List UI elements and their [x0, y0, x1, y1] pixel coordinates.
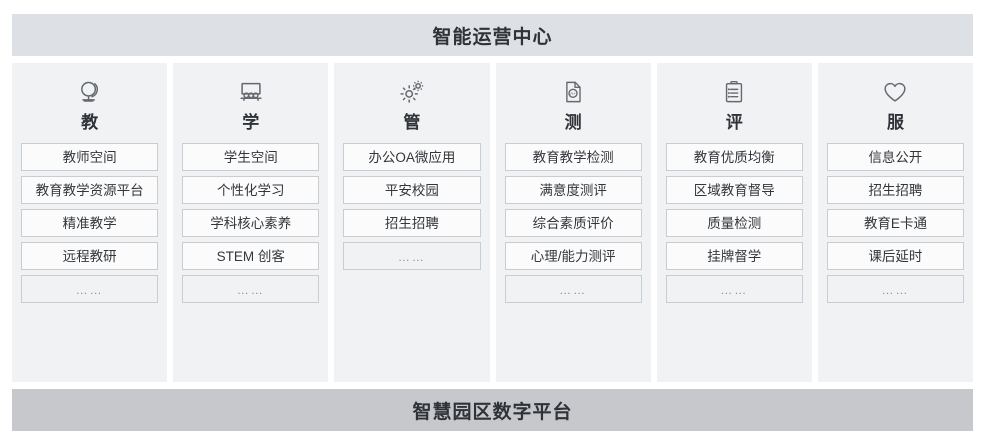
module-chip-more[interactable]: …… — [827, 275, 964, 303]
module-chip-more[interactable]: …… — [343, 242, 480, 270]
module-chip-more[interactable]: …… — [666, 275, 803, 303]
module-chip[interactable]: 区域教育督导 — [666, 176, 803, 204]
capability-column-2: 学学生空间个性化学习学科核心素养STEM 创客…… — [173, 63, 328, 382]
module-chip[interactable]: 教育E卡通 — [827, 209, 964, 237]
module-chip[interactable]: 质量检测 — [666, 209, 803, 237]
module-chip[interactable]: 精准教学 — [21, 209, 158, 237]
gears-icon — [343, 75, 480, 109]
module-chip[interactable]: 综合素质评价 — [505, 209, 642, 237]
column-item-list: 教育优质均衡区域教育督导质量检测挂牌督学…… — [666, 143, 803, 303]
module-chip[interactable]: 教育教学资源平台 — [21, 176, 158, 204]
module-chip[interactable]: 信息公开 — [827, 143, 964, 171]
page-title: 智能运营中心 — [432, 22, 552, 49]
svg-text:A+: A+ — [570, 91, 576, 96]
heart-icon — [827, 75, 964, 109]
module-chip-more[interactable]: …… — [182, 275, 319, 303]
clipboard-list-icon — [666, 75, 803, 109]
module-chip[interactable]: 招生招聘 — [343, 209, 480, 237]
module-chip[interactable]: 学生空间 — [182, 143, 319, 171]
module-chip[interactable]: 平安校园 — [343, 176, 480, 204]
module-chip[interactable]: 心理/能力测评 — [505, 242, 642, 270]
module-chip[interactable]: 教育教学检测 — [505, 143, 642, 171]
column-title: 学 — [182, 112, 319, 134]
module-chip[interactable]: 办公OA微应用 — [343, 143, 480, 171]
column-title: 教 — [21, 112, 158, 134]
module-chip[interactable]: 远程教研 — [21, 242, 158, 270]
column-title: 管 — [343, 112, 480, 134]
operations-center-diagram: 智能运营中心 教教师空间教育教学资源平台精准教学远程教研……学学生空间个性化学习… — [0, 0, 985, 443]
module-chip[interactable]: 教育优质均衡 — [666, 143, 803, 171]
module-chip[interactable]: 挂牌督学 — [666, 242, 803, 270]
globe-icon — [21, 75, 158, 109]
module-chip-more[interactable]: …… — [21, 275, 158, 303]
module-chip[interactable]: 个性化学习 — [182, 176, 319, 204]
column-item-list: 教师空间教育教学资源平台精准教学远程教研…… — [21, 143, 158, 303]
footer-bar: 智慧园区数字平台 — [12, 389, 973, 431]
capability-columns: 教教师空间教育教学资源平台精准教学远程教研……学学生空间个性化学习学科核心素养S… — [12, 63, 973, 382]
column-title: 评 — [666, 112, 803, 134]
module-chip[interactable]: 教师空间 — [21, 143, 158, 171]
module-chip[interactable]: 课后延时 — [827, 242, 964, 270]
classroom-icon — [182, 75, 319, 109]
document-grade-icon: A+ — [505, 75, 642, 109]
capability-column-4: A+测教育教学检测满意度测评综合素质评价心理/能力测评…… — [496, 63, 651, 382]
column-item-list: 信息公开招生招聘教育E卡通课后延时…… — [827, 143, 964, 303]
module-chip[interactable]: 学科核心素养 — [182, 209, 319, 237]
capability-column-1: 教教师空间教育教学资源平台精准教学远程教研…… — [12, 63, 167, 382]
module-chip-more[interactable]: …… — [505, 275, 642, 303]
capability-column-5: 评教育优质均衡区域教育督导质量检测挂牌督学…… — [657, 63, 812, 382]
column-item-list: 教育教学检测满意度测评综合素质评价心理/能力测评…… — [505, 143, 642, 303]
module-chip[interactable]: 招生招聘 — [827, 176, 964, 204]
column-title: 服 — [827, 112, 964, 134]
column-item-list: 办公OA微应用平安校园招生招聘…… — [343, 143, 480, 270]
column-item-list: 学生空间个性化学习学科核心素养STEM 创客…… — [182, 143, 319, 303]
module-chip[interactable]: STEM 创客 — [182, 242, 319, 270]
platform-title: 智慧园区数字平台 — [412, 397, 572, 424]
module-chip[interactable]: 满意度测评 — [505, 176, 642, 204]
capability-column-6: 服信息公开招生招聘教育E卡通课后延时…… — [818, 63, 973, 382]
column-title: 测 — [505, 112, 642, 134]
header-bar: 智能运营中心 — [12, 14, 973, 56]
capability-column-3: 管办公OA微应用平安校园招生招聘…… — [334, 63, 489, 382]
